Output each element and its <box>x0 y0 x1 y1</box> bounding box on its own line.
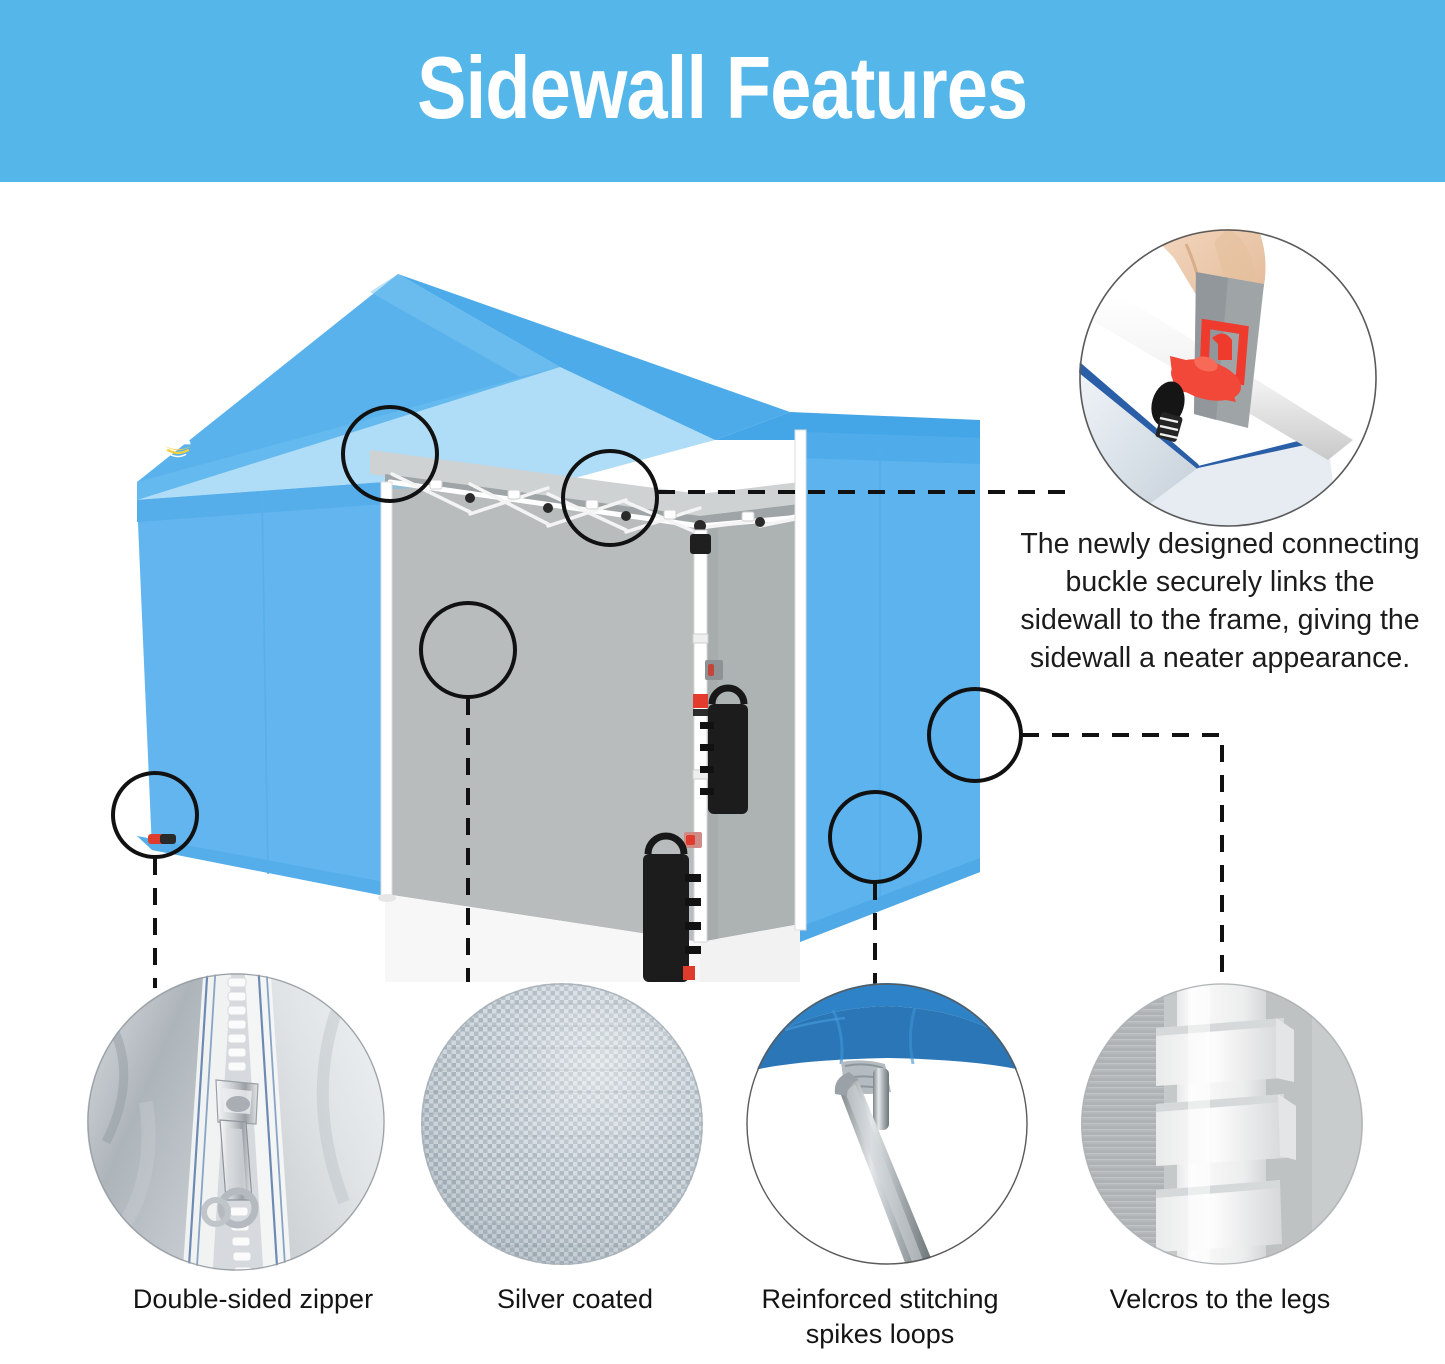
buckle-description: The newly designed connecting buckle sec… <box>1020 526 1420 678</box>
caption-reinforced-stitching-line2: spikes loops <box>680 1317 1080 1352</box>
zipper-photo <box>86 972 386 1272</box>
page-title: Sidewall Features <box>417 44 1027 132</box>
buckle-photo <box>1078 228 1378 528</box>
velcro-legs-photo <box>1080 982 1365 1267</box>
caption-velcros-to-legs: Velcros to the legs <box>1020 1282 1420 1317</box>
leader-line-velcro <box>1022 735 1222 992</box>
header-banner: Sidewall Features <box>0 0 1445 182</box>
stitching-spike-loop-photo <box>745 982 1030 1267</box>
infographic-stage: The newly designed connecting buckle sec… <box>0 182 1445 1364</box>
silver-coated-photo <box>420 982 705 1267</box>
